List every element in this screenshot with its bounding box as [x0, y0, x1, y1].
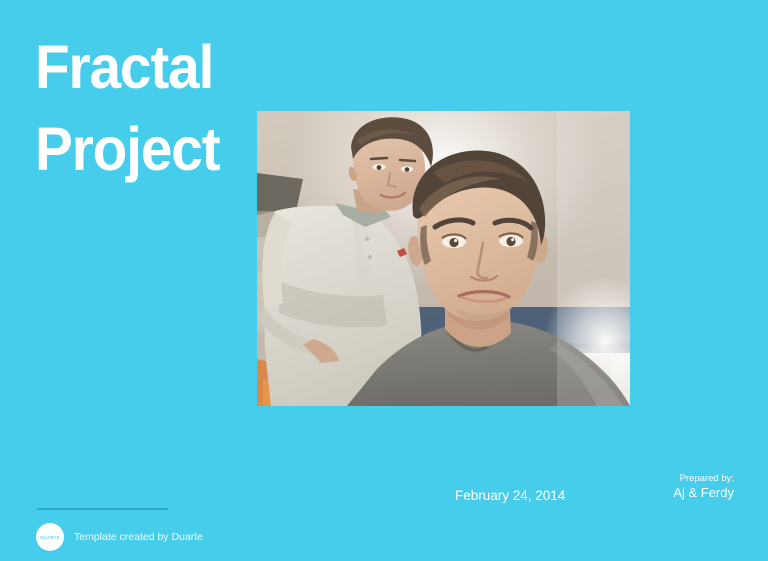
presentation-date: February 24, 2014 — [455, 488, 565, 504]
prepared-by-label: Prepared by: — [673, 473, 734, 485]
title-slide: Fractal Project — [0, 0, 768, 561]
prepared-by-block: Prepared by: Aj & Ferdy — [673, 473, 734, 501]
credit-divider — [37, 508, 168, 510]
title-photo — [257, 111, 630, 406]
credit-text: Template created by Duarte — [74, 530, 203, 544]
prepared-by-names: Aj & Ferdy — [673, 485, 734, 501]
page-title: Fractal Project — [35, 26, 285, 190]
photo-illustration — [257, 111, 630, 406]
title-line-1: Fractal — [35, 26, 268, 108]
duarte-logo-icon: DUARTE — [36, 523, 64, 551]
duarte-logo-text: DUARTE — [40, 535, 60, 540]
title-line-2: Project — [35, 108, 268, 190]
template-credit: DUARTE Template created by Duarte — [36, 523, 203, 551]
